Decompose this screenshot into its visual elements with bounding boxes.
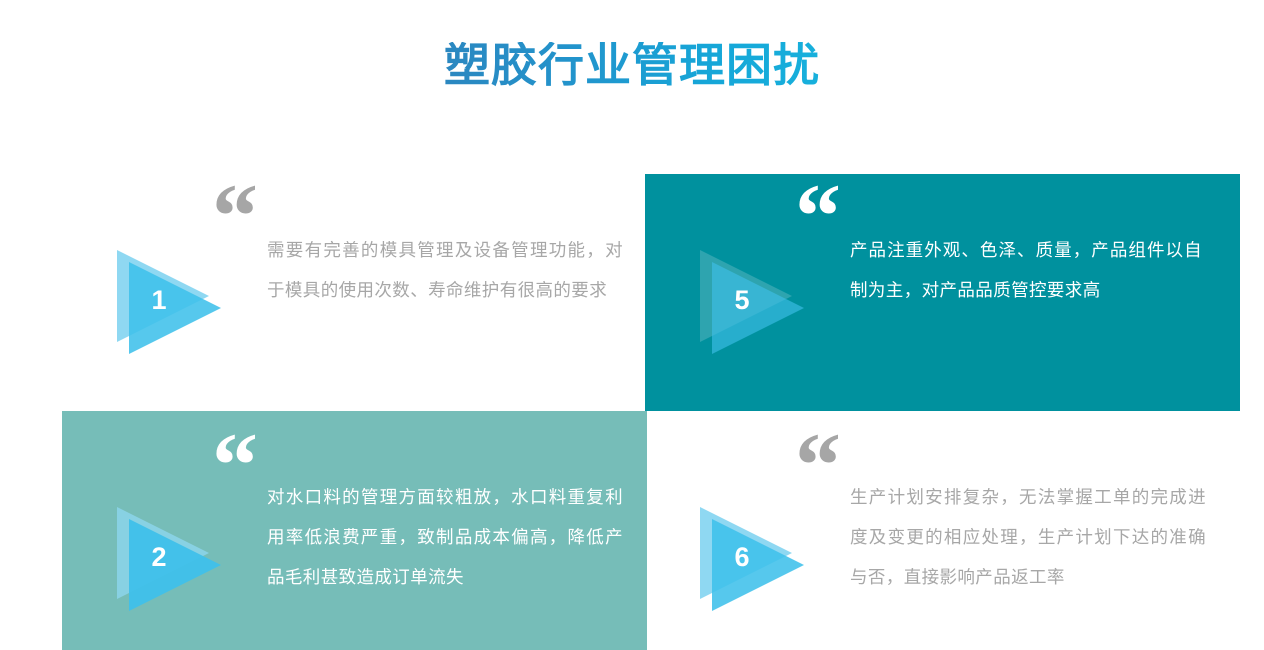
quote-card-5[interactable]: 5 “ 产品注重外观、色泽、质量，产品组件以自制为主，对产品品质管控要求高: [645, 174, 1240, 411]
arrow-marker-icon-1: 1: [115, 246, 223, 354]
quote-icon-6: “: [795, 419, 839, 511]
quote-icon-5: “: [795, 170, 839, 262]
quote-card-6[interactable]: 6 “ 生产计划安排复杂，无法掌握工单的完成进度及变更的相应处理，生产计划下达的…: [645, 411, 1240, 650]
quote-card-grid: 1 “ 需要有完善的模具管理及设备管理功能，对于模具的使用次数、寿命维护有很高的…: [0, 0, 1264, 650]
arrow-marker-icon-2: 2: [115, 503, 223, 611]
quote-text-1: 需要有完善的模具管理及设备管理功能，对于模具的使用次数、寿命维护有很高的要求: [267, 230, 623, 310]
quote-text-5: 产品注重外观、色泽、质量，产品组件以自制为主，对产品品质管控要求高: [850, 230, 1202, 310]
quote-card-2[interactable]: 2 “ 对水口料的管理方面较粗放，水口料重复利用率低浪费严重，致制品成本偏高，降…: [62, 411, 647, 650]
quote-card-1[interactable]: 1 “ 需要有完善的模具管理及设备管理功能，对于模具的使用次数、寿命维护有很高的…: [62, 174, 647, 411]
arrow-marker-icon-6: 6: [698, 503, 806, 611]
quote-text-2: 对水口料的管理方面较粗放，水口料重复利用率低浪费严重，致制品成本偏高，降低产品毛…: [267, 477, 623, 597]
arrow-marker-icon-5: 5: [698, 246, 806, 354]
quote-icon-1: “: [212, 170, 256, 262]
quote-icon-2: “: [212, 419, 256, 511]
quote-text-6: 生产计划安排复杂，无法掌握工单的完成进度及变更的相应处理，生产计划下达的准确与否…: [850, 477, 1206, 597]
